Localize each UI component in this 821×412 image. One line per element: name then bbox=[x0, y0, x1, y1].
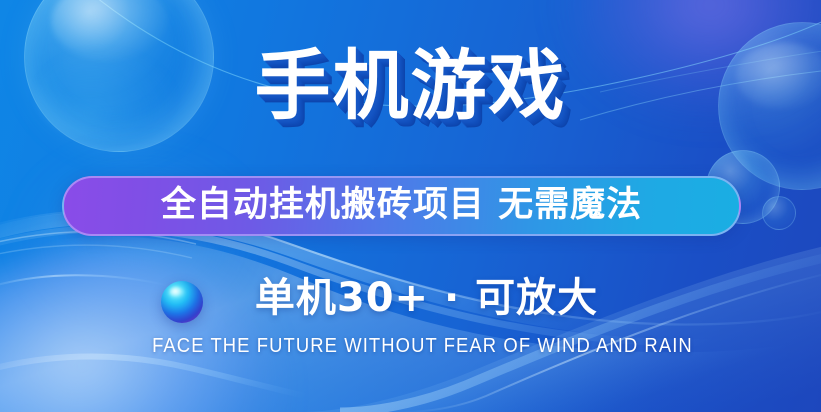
subtitle: 单机30+ · 可放大 bbox=[0, 276, 821, 320]
promo-banner: 手机游戏 全自动挂机搬砖项目 无需魔法 单机30+ · 可放大 FACE THE… bbox=[0, 0, 821, 412]
headline-pill-label: 全自动挂机搬砖项目 无需魔法 bbox=[161, 188, 642, 223]
headline-pill: 全自动挂机搬砖项目 无需魔法 bbox=[62, 176, 741, 236]
bubble-small-icon bbox=[762, 196, 796, 230]
english-tagline: FACE THE FUTURE WITHOUT FEAR OF WIND AND… bbox=[33, 336, 788, 356]
main-title: 手机游戏 bbox=[0, 48, 821, 124]
glow-bottom-left bbox=[0, 250, 280, 412]
